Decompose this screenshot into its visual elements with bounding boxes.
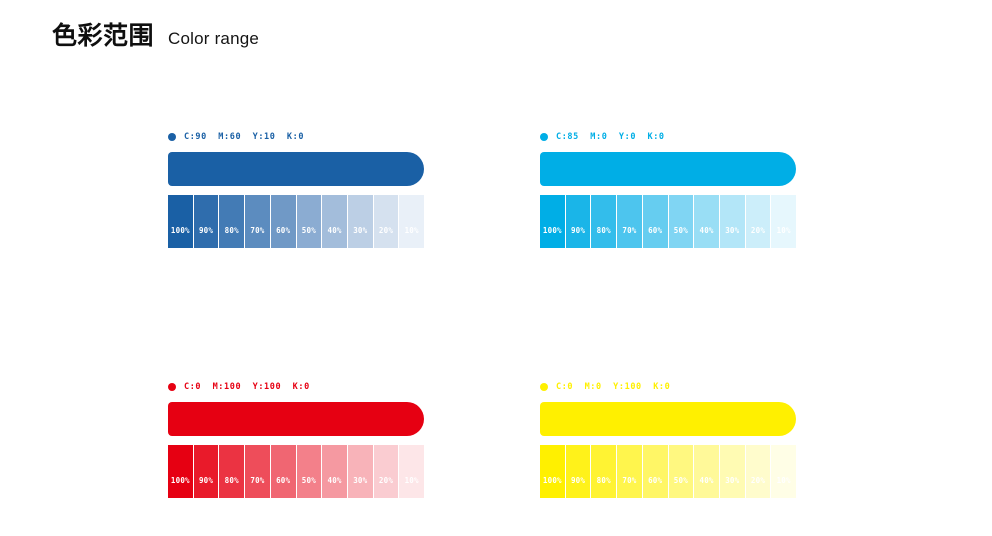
tint-percent-label: 90% (566, 227, 591, 235)
tint-percent-label: 10% (771, 477, 796, 485)
page-header: 色彩范围 Color range (52, 24, 259, 49)
tint-swatch[interactable]: 30% (348, 445, 373, 498)
tint-swatch[interactable]: 20% (374, 445, 399, 498)
tint-swatch[interactable]: 90% (194, 195, 219, 248)
color-caption: C:0 M:100 Y:100 K:0 (168, 380, 424, 394)
tint-strip: 100%90%80%70%60%50%40%30%20%10% (540, 445, 796, 498)
tint-percent-label: 40% (694, 227, 719, 235)
tint-percent-label: 40% (322, 227, 347, 235)
tint-swatch[interactable]: 30% (720, 195, 745, 248)
tint-swatch[interactable]: 100% (168, 445, 193, 498)
color-dot-icon (168, 133, 176, 141)
tint-swatch[interactable]: 50% (297, 195, 322, 248)
tint-percent-label: 40% (694, 477, 719, 485)
tint-percent-label: 100% (168, 227, 193, 235)
solid-color-bar[interactable] (168, 402, 424, 436)
tint-percent-label: 100% (540, 227, 565, 235)
tint-percent-label: 60% (643, 477, 668, 485)
tint-percent-label: 10% (399, 477, 424, 485)
cmyk-label: C:85 M:0 Y:0 K:0 (556, 133, 665, 142)
tint-swatch[interactable]: 60% (643, 445, 668, 498)
tint-percent-label: 70% (617, 227, 642, 235)
color-group-cyan: C:85 M:0 Y:0 K:0100%90%80%70%60%50%40%30… (540, 130, 796, 248)
color-dot-icon (540, 383, 548, 391)
tint-swatch[interactable]: 90% (566, 445, 591, 498)
tint-swatch[interactable]: 50% (297, 445, 322, 498)
color-caption: C:85 M:0 Y:0 K:0 (540, 130, 796, 144)
tint-percent-label: 80% (219, 227, 244, 235)
cmyk-label: C:0 M:0 Y:100 K:0 (556, 383, 670, 392)
tint-percent-label: 50% (297, 477, 322, 485)
tint-swatch[interactable]: 60% (643, 195, 668, 248)
tint-swatch[interactable]: 40% (694, 445, 719, 498)
tint-swatch[interactable]: 90% (194, 445, 219, 498)
tint-swatch[interactable]: 70% (245, 195, 270, 248)
tint-swatch[interactable]: 10% (399, 445, 424, 498)
page-title-en: Color range (168, 30, 259, 47)
tint-percent-label: 10% (399, 227, 424, 235)
tint-percent-label: 70% (245, 227, 270, 235)
solid-color-bar[interactable] (168, 152, 424, 186)
tint-percent-label: 80% (591, 227, 616, 235)
tint-percent-label: 80% (219, 477, 244, 485)
color-dot-icon (168, 383, 176, 391)
tint-percent-label: 90% (566, 477, 591, 485)
tint-percent-label: 30% (720, 477, 745, 485)
tint-percent-label: 70% (245, 477, 270, 485)
tint-percent-label: 30% (348, 477, 373, 485)
tint-percent-label: 40% (322, 477, 347, 485)
tint-swatch[interactable]: 80% (591, 195, 616, 248)
tint-swatch[interactable]: 40% (694, 195, 719, 248)
tint-percent-label: 30% (348, 227, 373, 235)
cmyk-label: C:90 M:60 Y:10 K:0 (184, 133, 304, 142)
tint-swatch[interactable]: 100% (540, 445, 565, 498)
tint-swatch[interactable]: 40% (322, 195, 347, 248)
tint-swatch[interactable]: 60% (271, 195, 296, 248)
tint-swatch[interactable]: 70% (245, 445, 270, 498)
tint-percent-label: 100% (540, 477, 565, 485)
tint-percent-label: 50% (669, 477, 694, 485)
tint-swatch[interactable]: 10% (771, 195, 796, 248)
tint-swatch[interactable]: 80% (591, 445, 616, 498)
tint-strip: 100%90%80%70%60%50%40%30%20%10% (168, 445, 424, 498)
color-group-yellow: C:0 M:0 Y:100 K:0100%90%80%70%60%50%40%3… (540, 380, 796, 498)
tint-percent-label: 60% (271, 227, 296, 235)
color-caption: C:90 M:60 Y:10 K:0 (168, 130, 424, 144)
tint-percent-label: 20% (746, 477, 771, 485)
tint-swatch[interactable]: 20% (374, 195, 399, 248)
tint-percent-label: 80% (591, 477, 616, 485)
color-group-red: C:0 M:100 Y:100 K:0100%90%80%70%60%50%40… (168, 380, 424, 498)
tint-swatch[interactable]: 70% (617, 445, 642, 498)
tint-percent-label: 100% (168, 477, 193, 485)
tint-percent-label: 50% (669, 227, 694, 235)
tint-percent-label: 20% (374, 227, 399, 235)
tint-percent-label: 90% (194, 477, 219, 485)
tint-percent-label: 30% (720, 227, 745, 235)
tint-swatch[interactable]: 70% (617, 195, 642, 248)
tint-swatch[interactable]: 30% (348, 195, 373, 248)
color-group-dark-blue: C:90 M:60 Y:10 K:0100%90%80%70%60%50%40%… (168, 130, 424, 248)
tint-percent-label: 20% (374, 477, 399, 485)
solid-color-bar[interactable] (540, 402, 796, 436)
tint-swatch[interactable]: 90% (566, 195, 591, 248)
tint-swatch[interactable]: 10% (771, 445, 796, 498)
tint-swatch[interactable]: 80% (219, 195, 244, 248)
tint-swatch[interactable]: 100% (168, 195, 193, 248)
color-groups-grid: C:90 M:60 Y:10 K:0100%90%80%70%60%50%40%… (168, 130, 800, 498)
tint-swatch[interactable]: 50% (669, 445, 694, 498)
tint-percent-label: 70% (617, 477, 642, 485)
tint-swatch[interactable]: 20% (746, 195, 771, 248)
tint-strip: 100%90%80%70%60%50%40%30%20%10% (540, 195, 796, 248)
tint-percent-label: 50% (297, 227, 322, 235)
cmyk-label: C:0 M:100 Y:100 K:0 (184, 383, 310, 392)
tint-percent-label: 90% (194, 227, 219, 235)
tint-swatch[interactable]: 60% (271, 445, 296, 498)
tint-swatch[interactable]: 100% (540, 195, 565, 248)
tint-swatch[interactable]: 40% (322, 445, 347, 498)
color-caption: C:0 M:0 Y:100 K:0 (540, 380, 796, 394)
tint-percent-label: 10% (771, 227, 796, 235)
tint-swatch[interactable]: 30% (720, 445, 745, 498)
tint-swatch[interactable]: 80% (219, 445, 244, 498)
color-dot-icon (540, 133, 548, 141)
tint-swatch[interactable]: 50% (669, 195, 694, 248)
tint-percent-label: 20% (746, 227, 771, 235)
solid-color-bar[interactable] (540, 152, 796, 186)
tint-percent-label: 60% (271, 477, 296, 485)
tint-strip: 100%90%80%70%60%50%40%30%20%10% (168, 195, 424, 248)
page-title-cn: 色彩范围 (52, 24, 154, 49)
tint-percent-label: 60% (643, 227, 668, 235)
tint-swatch[interactable]: 10% (399, 195, 424, 248)
tint-swatch[interactable]: 20% (746, 445, 771, 498)
